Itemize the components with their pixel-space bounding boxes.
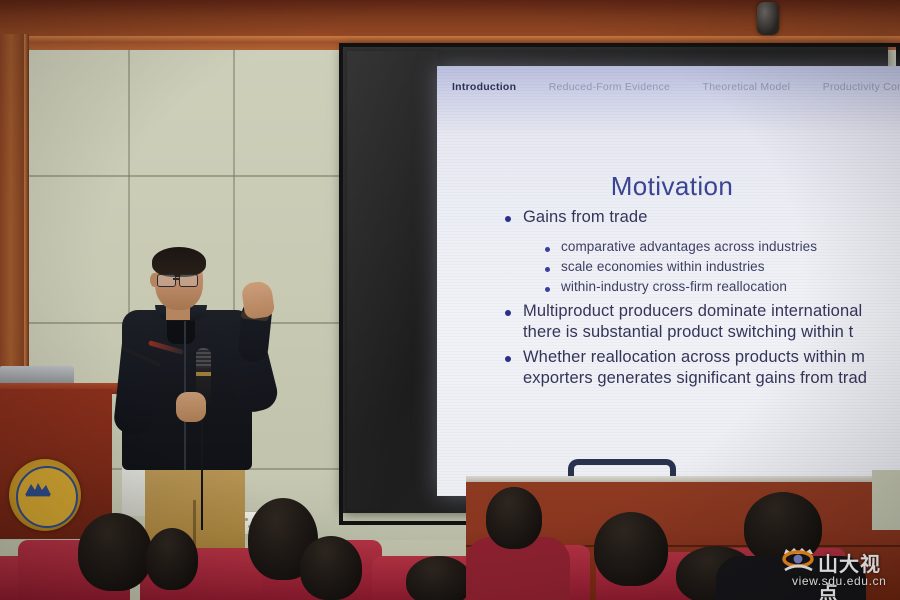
audience-head [300,536,362,600]
bullet-dot [505,356,511,362]
nav-item-introduction: Introduction [452,81,516,93]
speaker-jacket-zipper [184,312,186,470]
ceiling-speaker-icon [757,2,779,35]
emblem-ring [16,466,78,528]
audience-head [486,487,542,549]
glasses-left-lens-icon [157,274,176,287]
bullet-1-text: Gains from trade [523,207,647,228]
bullet-2-text-line2: there is substantial product switching w… [523,322,853,343]
bullet-3-text: Whether reallocation across products wit… [523,347,865,368]
watermark: 山大视点 view.sdu.edu.cn [776,546,896,596]
microphone-grille-icon [196,348,211,368]
nav-item-productivity-consequence: Productivity Consequence [823,81,900,93]
glasses-bridge-icon [173,278,180,280]
slide-nav: Introduction Reduced-Form Evidence Theor… [437,77,900,93]
watermark-url: view.sdu.edu.cn [792,574,886,588]
university-emblem [9,459,81,531]
microphone-band [196,372,211,376]
nav-item-theoretical-model: Theoretical Model [703,81,791,93]
eye-logo-icon [782,548,816,572]
bullet-3-text-line2: exporters generates significant gains fr… [523,368,867,389]
lecture-photo: Introduction Reduced-Form Evidence Theor… [0,0,900,600]
bullet-dot [545,287,550,292]
sub-bullet-text: within-industry cross-firm reallocation [561,279,787,294]
slide-title: Motivation [437,171,900,202]
bullet-dot [505,216,511,222]
sub-bullet-text: scale economies within industries [561,259,765,274]
nav-item-reduced-form-evidence: Reduced-Form Evidence [549,81,670,93]
speaker-hair [152,247,206,277]
bullet-dot [545,267,550,272]
right-wall-segment [872,470,900,530]
projected-slide: Introduction Reduced-Form Evidence Theor… [437,66,900,496]
audience-head [146,528,198,590]
bullet-dot [505,310,511,316]
bullet-2-text: Multiproduct producers dominate internat… [523,301,862,322]
sub-bullet-text: comparative advantages across industries [561,239,817,254]
audience-head [406,556,472,600]
mountain-icon [23,481,53,497]
board-glare [347,51,437,509]
glasses-right-lens-icon [179,274,198,287]
audience-head [594,512,668,586]
wood-trim [0,36,900,43]
audience-head [78,513,152,591]
speaker-mic-hand [176,392,206,422]
bullet-dot [545,247,550,252]
